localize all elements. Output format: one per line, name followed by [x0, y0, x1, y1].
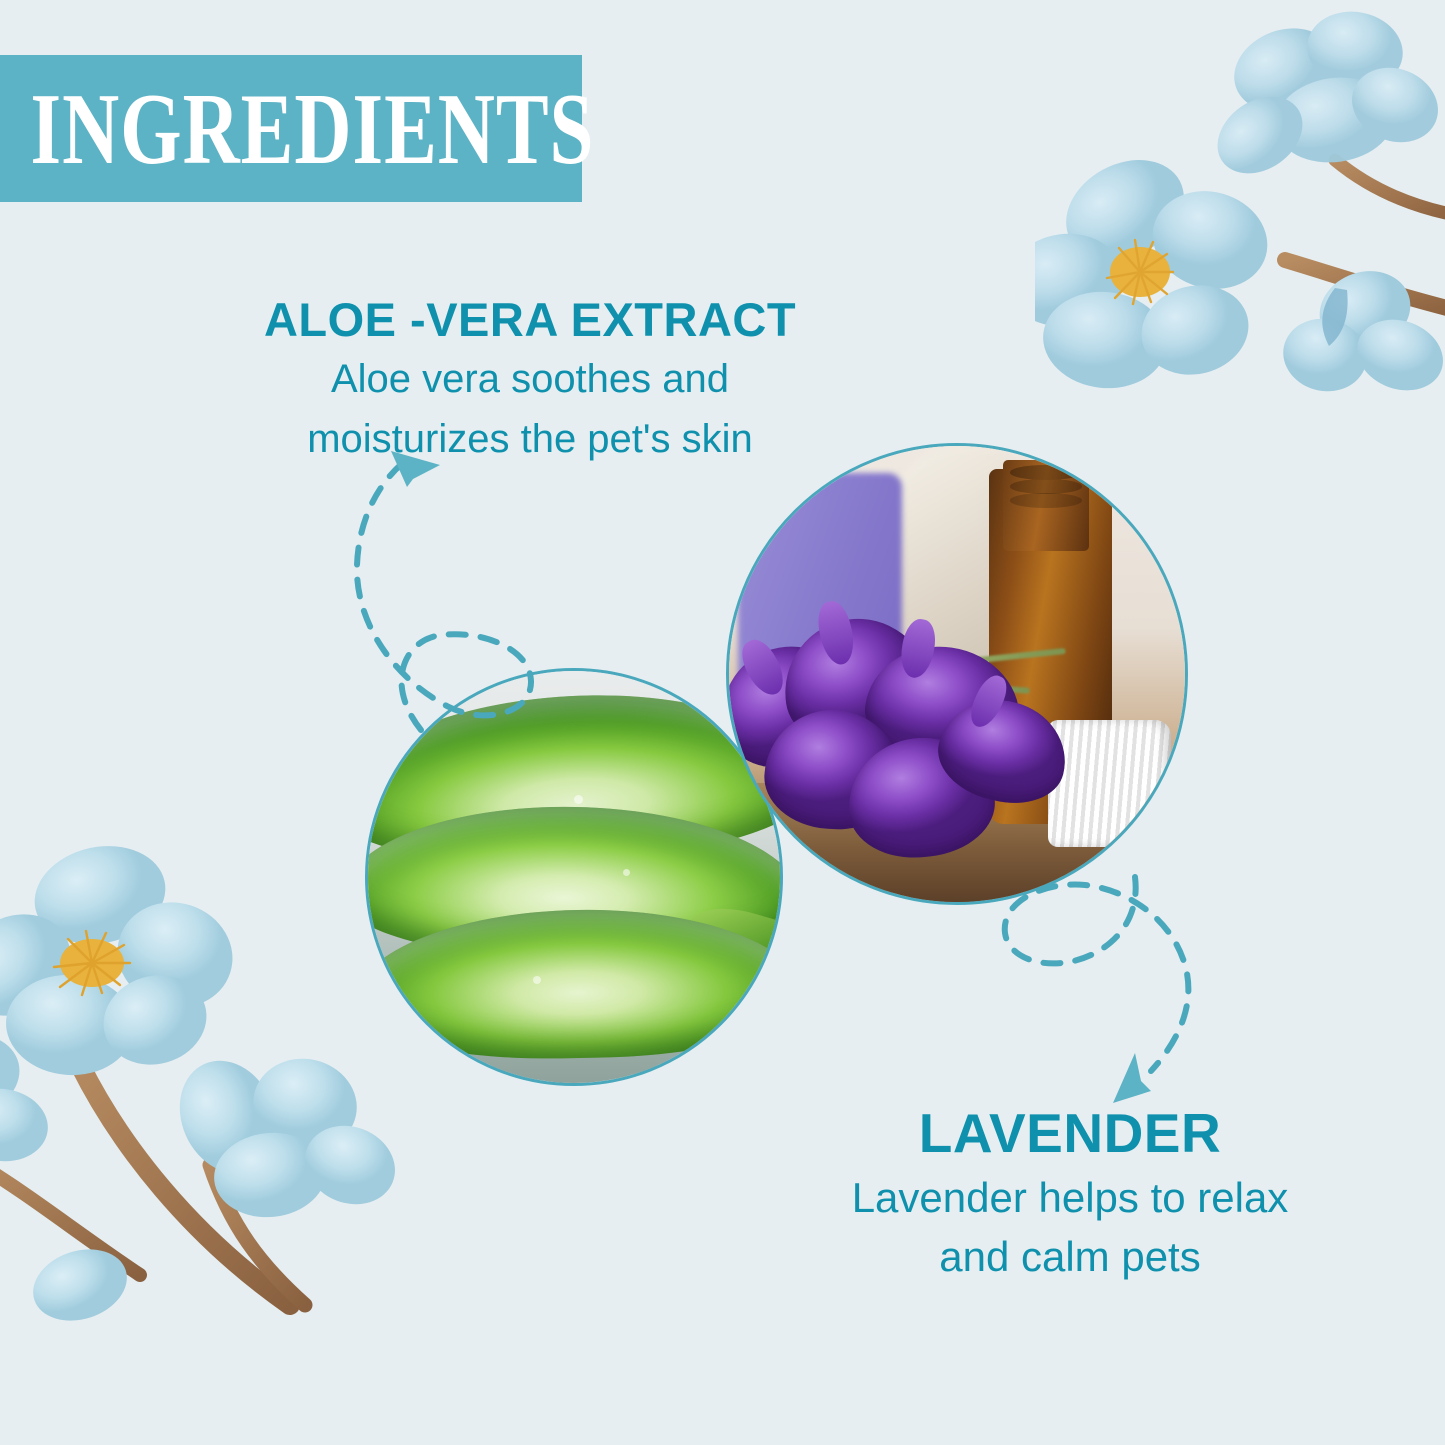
- arrow-dashed-path: [1005, 877, 1189, 1071]
- lavender-photo: [726, 443, 1188, 905]
- bottle-cap: [1048, 720, 1171, 848]
- lavender-text-block: LAVENDER Lavender helps to relax and cal…: [740, 1105, 1400, 1282]
- aloe-gel-drop: [533, 976, 541, 984]
- lavender-description-line2: and calm pets: [740, 1232, 1400, 1282]
- bottle-neck: [1003, 460, 1090, 551]
- page-title: INGREDIENTS: [0, 78, 594, 179]
- flower-bud: [1276, 260, 1445, 402]
- arrow-dashed-path: [357, 461, 531, 730]
- flower-blossom: [0, 835, 246, 1079]
- dashed-arrow-to-lavender-text: [975, 875, 1215, 1125]
- arrow-head-icon: [1113, 1053, 1151, 1103]
- lavender-description-line1: Lavender helps to relax: [740, 1173, 1400, 1223]
- flower-petal: [24, 1238, 136, 1332]
- ingredients-banner: INGREDIENTS: [0, 55, 582, 202]
- flower-bud-cluster: [1203, 10, 1445, 189]
- flower-blossom: [1035, 140, 1279, 394]
- aloe-vera-description-line1: Aloe vera soothes and: [200, 356, 860, 403]
- flower-stem: [1335, 160, 1445, 215]
- aloe-gel-drop: [574, 795, 583, 804]
- ingredients-poster: INGREDIENTS ALOE -VERA EXTRACT Aloe vera…: [0, 0, 1445, 1445]
- aloe-vera-heading: ALOE -VERA EXTRACT: [200, 295, 860, 344]
- watercolor-flower-cluster-bottom-left: [0, 835, 420, 1355]
- dashed-arrow-to-aloe-text: [345, 435, 585, 735]
